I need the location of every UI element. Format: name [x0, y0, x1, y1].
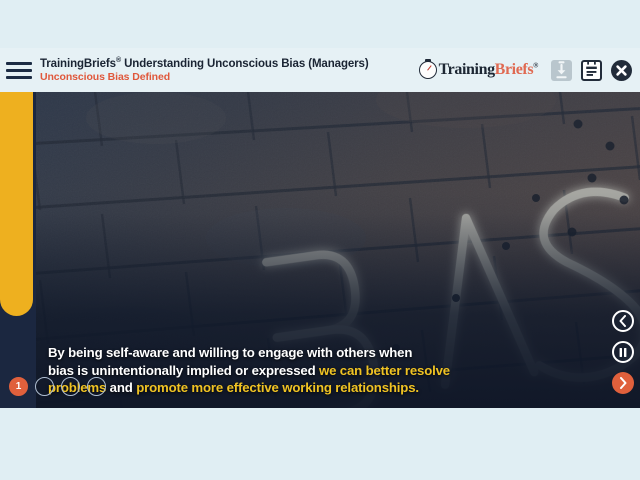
course-title-rest: Understanding Unconscious Bias (Managers…	[121, 58, 369, 70]
next-button[interactable]	[612, 372, 634, 394]
title-block: TrainingBriefs® Understanding Unconsciou…	[40, 56, 419, 83]
progress-dot-2[interactable]: 2	[35, 377, 54, 396]
pause-icon	[618, 347, 628, 358]
trainingbriefs-logo: TrainingBriefs®	[419, 61, 538, 79]
chevron-left-icon	[618, 315, 628, 327]
hamburger-bar	[6, 76, 32, 79]
previous-button[interactable]	[612, 310, 634, 332]
hamburger-menu-icon[interactable]	[6, 59, 34, 81]
course-title-brand: TrainingBriefs	[40, 58, 116, 70]
progress-dot-1[interactable]: 1	[9, 377, 28, 396]
progress-dots: 1 2 3 4	[9, 377, 106, 396]
chevron-right-icon	[618, 377, 628, 389]
caption-line-3-highlight-b: promote more effective working relations…	[136, 380, 419, 395]
brand-word-training: Training	[439, 61, 495, 78]
close-glyph	[611, 60, 632, 81]
caption-line-3-plain: and	[106, 380, 136, 395]
notes-glyph	[583, 62, 600, 79]
download-icon[interactable]	[551, 60, 572, 81]
progress-dot-3[interactable]: 3	[61, 377, 80, 396]
playback-controls	[612, 310, 634, 394]
caption-line-1: By being self-aware and willing to engag…	[48, 345, 412, 360]
notes-icon[interactable]	[581, 60, 602, 81]
brand-word-briefs: Briefs	[495, 61, 533, 78]
course-title: TrainingBriefs® Understanding Unconsciou…	[40, 57, 419, 71]
hamburger-bar	[6, 69, 32, 72]
brand-registered-mark: ®	[533, 62, 538, 70]
stopwatch-icon	[419, 61, 437, 79]
player-header: TrainingBriefs® Understanding Unconsciou…	[0, 48, 640, 92]
progress-dot-4[interactable]: 4	[87, 377, 106, 396]
course-player-stage: By being self-aware and willing to engag…	[0, 48, 640, 408]
brand-wordmark: TrainingBriefs®	[439, 61, 538, 79]
caption-line-2-plain: bias is unintentionally implied or expre…	[48, 363, 319, 378]
close-icon[interactable]	[611, 60, 632, 81]
caption-line-2-highlight: we can better resolve	[319, 363, 450, 378]
pause-button[interactable]	[612, 341, 634, 363]
lesson-title: Unconscious Bias Defined	[40, 72, 419, 84]
hamburger-bar	[6, 62, 32, 65]
slide-caption: By being self-aware and willing to engag…	[48, 344, 468, 397]
download-glyph	[551, 60, 572, 81]
header-actions: TrainingBriefs®	[419, 60, 640, 81]
